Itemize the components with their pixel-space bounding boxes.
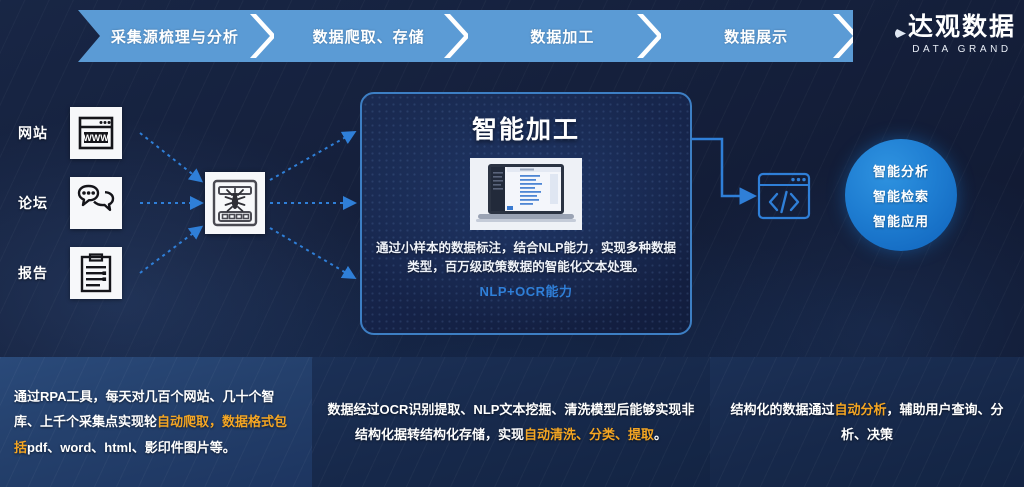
processing-panel: 智能加工 — [360, 92, 692, 335]
source-forum-icon-box — [70, 177, 122, 229]
bottom-text-processing: 数据经过OCR识别提取、NLP文本挖掘、清洗模型后能够实现非结构化据转结构化存储… — [326, 397, 696, 448]
chevron-separator-icon — [635, 10, 661, 62]
logo-chinese-name: 达观数据 — [908, 14, 1016, 40]
processing-part-2-highlight: 自动清洗、分类、提取 — [524, 427, 654, 442]
link-crawler-panel-bottom — [270, 228, 353, 277]
chevron-separator-icon — [248, 10, 274, 62]
report-document-icon — [79, 253, 113, 293]
source-report-label: 报告 — [18, 263, 70, 283]
source-website: 网站 WWW — [18, 107, 122, 159]
link-panel-code — [692, 139, 752, 196]
panel-description: 通过小样本的数据标注，结合NLP能力，实现多种数据类型，百万级政策数据的智能化文… — [362, 239, 690, 278]
application-part-2-highlight: 自动分析 — [834, 402, 886, 417]
logo-mark-icon — [895, 28, 906, 39]
source-forum: 论坛 — [18, 177, 122, 229]
process-banner: 采集源梳理与分析 数据爬取、存储 数据加工 数据展示 — [78, 10, 853, 62]
source-report: 报告 — [18, 247, 122, 299]
processing-part-3: 。 — [654, 427, 667, 442]
source-website-icon-box: WWW — [70, 107, 122, 159]
banner-step-2[interactable]: 数据爬取、存储 — [272, 10, 466, 62]
chevron-separator-icon — [442, 10, 468, 62]
svg-text:WWW: WWW — [83, 133, 109, 143]
chevron-separator-icon — [831, 10, 857, 62]
link-report-crawler — [140, 228, 200, 273]
banner-step-1-label: 采集源梳理与分析 — [111, 26, 239, 47]
outcome-line-3: 智能应用 — [873, 211, 929, 230]
banner-step-3[interactable]: 数据加工 — [466, 10, 660, 62]
outcome-circle: 智能分析 智能检索 智能应用 — [845, 139, 957, 251]
panel-image — [470, 158, 582, 230]
source-report-icon-box — [70, 247, 122, 299]
laptop-annotation-icon — [474, 162, 578, 226]
bottom-column-application: 结构化的数据通过自动分析，辅助用户查询、分析、决策 — [710, 357, 1024, 487]
bottom-text-application: 结构化的数据通过自动分析，辅助用户查询、分析、决策 — [724, 397, 1010, 448]
source-website-label: 网站 — [18, 123, 70, 143]
spider-crawler-icon — [211, 178, 259, 228]
logo-english-name: DATA GRAND — [908, 44, 1016, 55]
chat-bubbles-icon — [76, 184, 116, 222]
bottom-column-collection: 通过RPA工具，每天对几百个网站、几十个智库、上千个采集点实现轮自动爬取，数据格… — [0, 357, 312, 487]
outcome-line-2: 智能检索 — [873, 186, 929, 205]
infographic-canvas: 采集源梳理与分析 数据爬取、存储 数据加工 数据展示 达观数据 — [0, 0, 1024, 487]
banner-step-2-label: 数据爬取、存储 — [313, 26, 425, 47]
link-crawler-panel-top — [270, 133, 353, 180]
banner-step-1[interactable]: 采集源梳理与分析 — [78, 10, 272, 62]
outcome-line-1: 智能分析 — [873, 161, 929, 180]
crawler-node — [205, 172, 265, 234]
application-part-1: 结构化的数据通过 — [730, 402, 834, 417]
collection-part-3: pdf、word、html、影印件图片等。 — [27, 440, 236, 455]
panel-title: 智能加工 — [362, 110, 690, 146]
bottom-description-strip: 通过RPA工具，每天对几百个网站、几十个智库、上千个采集点实现轮自动爬取，数据格… — [0, 357, 1024, 487]
code-output-node — [757, 172, 811, 220]
banner-step-4-label: 数据展示 — [724, 26, 788, 47]
code-window-icon — [757, 172, 811, 220]
panel-subtitle: NLP+OCR能力 — [362, 281, 690, 300]
banner-step-3-label: 数据加工 — [530, 26, 594, 47]
link-website-crawler — [140, 133, 200, 180]
banner-step-4[interactable]: 数据展示 — [659, 10, 853, 62]
source-forum-label: 论坛 — [18, 193, 70, 213]
bottom-text-collection: 通过RPA工具，每天对几百个网站、几十个智库、上千个采集点实现轮自动爬取，数据格… — [14, 384, 298, 460]
brand-logo: 达观数据 DATA GRAND — [908, 14, 1016, 55]
browser-www-icon: WWW — [77, 114, 115, 152]
bottom-column-processing: 数据经过OCR识别提取、NLP文本挖掘、清洗模型后能够实现非结构化据转结构化存储… — [312, 357, 710, 487]
